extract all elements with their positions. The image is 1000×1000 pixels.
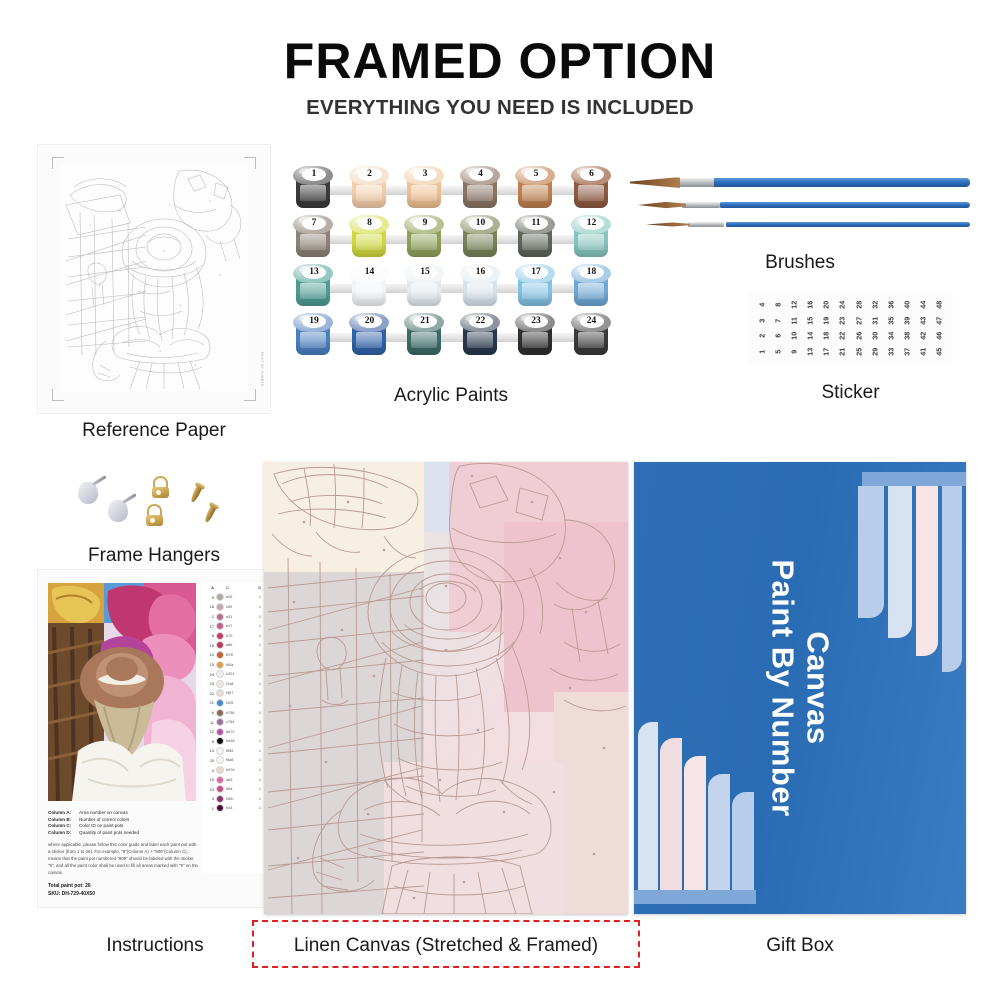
gift-box-line-1: Canvas [800, 559, 835, 816]
sticker-number: 16 [803, 297, 819, 313]
paint-pot-cap: 11 [515, 215, 555, 234]
legend-color-swatch [216, 756, 224, 764]
sku-label: SKU: [48, 891, 60, 897]
paint-pot-1: 1 [292, 166, 334, 210]
caption-sticker: Sticker [748, 382, 953, 404]
sticker-number: 44 [915, 297, 931, 313]
legend-area-number: 4 [205, 796, 214, 801]
gift-box-top-band [862, 472, 966, 486]
legend-quantity: 1 [255, 739, 261, 743]
paint-pot-cap: 13 [293, 264, 333, 283]
brush-medium [638, 202, 970, 208]
sticker-number: 21 [835, 343, 851, 359]
paint-row: 192021222324 [292, 311, 610, 360]
legend-quantity: 1 [255, 711, 261, 715]
legend-row: 13d9a1 [203, 784, 263, 794]
legend-row: 19a631 [203, 775, 263, 785]
sku-value: DH-729-40X50 [62, 891, 95, 897]
sticker-number: 37 [899, 343, 915, 359]
sticker-sheet: 4812162024283236404448371115192327313539… [748, 292, 953, 364]
legend-rows: 9a26116c6912a31117b4718b70118a86110B7811… [203, 593, 263, 814]
legend-color-code: b47 [226, 624, 253, 628]
paint-pot-cap: 12 [571, 215, 611, 234]
legend-area-number: 24 [205, 672, 214, 677]
paint-pot-cap: 5 [515, 166, 555, 185]
legend-row: 5h6481 [203, 737, 263, 747]
legend-row: 17b471 [203, 621, 263, 631]
legend-color-swatch [216, 670, 224, 678]
gift-box-title: Canvas Paint By Number [765, 559, 834, 816]
paint-pot-cap: 2 [349, 166, 389, 185]
sticker-number: 46 [931, 328, 947, 344]
paint-pot-cap: 6 [571, 166, 611, 185]
gift-box-stripe [916, 486, 938, 656]
preview-artwork-svg [48, 583, 196, 801]
paint-pot-number: 18 [580, 266, 604, 279]
paint-pot-cap: 14 [349, 264, 389, 283]
sticker-number: 32 [867, 297, 883, 313]
legend-row: 9a261 [203, 593, 263, 603]
paint-pot-cap: 4 [460, 166, 500, 185]
sticker-number: 8 [770, 297, 786, 313]
legend-row: 14f9551 [203, 746, 263, 756]
legend-color-code: a31 [226, 615, 253, 619]
brush-large [630, 178, 970, 187]
sticker-number: 11 [786, 312, 802, 328]
legend-header-b-spacer [216, 584, 224, 592]
caption-instructions: Instructions [38, 935, 272, 957]
brush-ferrule [682, 202, 720, 208]
brush-small [646, 222, 970, 227]
paint-pot-5: 5 [514, 166, 556, 210]
legend-quantity: 1 [255, 730, 261, 734]
legend-row: 4f46b1 [203, 794, 263, 804]
acrylic-paints-group: 123456 789101112 131415161718 1920212223… [292, 164, 610, 360]
paint-pot-number: 3 [413, 168, 437, 181]
paint-pot-number: 9 [413, 217, 437, 230]
legend-area-number: 21 [205, 700, 214, 705]
screw-icon [190, 483, 204, 504]
caption-brushes: Brushes [630, 252, 970, 274]
legend-color-code: f955 [226, 749, 253, 753]
sticker-number: 35 [883, 312, 899, 328]
paint-pot-14: 14 [348, 264, 390, 308]
legend-color-code: h756 [226, 711, 253, 715]
sticker-number: 30 [867, 328, 883, 344]
legend-color-code: f367 [226, 691, 253, 695]
paint-pot-16: 16 [459, 264, 501, 308]
gift-box-stripe [942, 486, 962, 672]
legend-color-code: h648 [226, 739, 253, 743]
plastic-hook-icon [108, 500, 128, 522]
paint-pot-number: 21 [413, 315, 437, 328]
sticker-number: 34 [883, 328, 899, 344]
sticker-number: 9 [786, 343, 802, 359]
legend-row: 2a311 [203, 612, 263, 622]
legend-color-code: f148 [226, 682, 253, 686]
gift-box-stripe [684, 756, 706, 890]
page-subtitle: EVERYTHING YOU NEED IS INCLUDED [0, 96, 1000, 120]
legend-row: 12a9721 [203, 727, 263, 737]
sticker-number: 6 [770, 328, 786, 344]
legend-row: 15f60a1 [203, 660, 263, 670]
caption-acrylic-paints: Acrylic Paints [292, 385, 610, 407]
paint-pot-number: 23 [524, 315, 548, 328]
legend-area-number: 8 [205, 633, 214, 638]
legend-quantity: 1 [255, 653, 261, 657]
instructions-text-block: Column A:Area number on canvasColumn B:N… [48, 810, 200, 898]
paint-pot-number: 10 [469, 217, 493, 230]
legend-color-code: f105 [226, 701, 253, 705]
sticker-number: 5 [770, 343, 786, 359]
legend-color-code: f60a [226, 663, 253, 667]
paint-pot-number: 22 [469, 315, 493, 328]
column-description: Color ID on paint pots [79, 823, 123, 830]
paint-pot-cap: 16 [460, 264, 500, 283]
legend-area-number: 6 [205, 710, 214, 715]
column-description: Quantity of paint pots needed [79, 830, 139, 837]
legend-quantity: 1 [255, 643, 261, 647]
brush-ferrule [688, 222, 724, 227]
legend-header-c: C [226, 586, 253, 590]
column-key: Column D: [48, 830, 74, 837]
legend-area-number: 22 [205, 691, 214, 696]
legend-quantity: 1 [255, 624, 261, 628]
column-definitions: Column A:Area number on canvasColumn B:N… [48, 810, 200, 836]
sticker-number: 29 [867, 343, 883, 359]
paint-pot-cap: 1 [293, 166, 333, 185]
column-key: Column B: [48, 817, 74, 824]
paint-pot-cap: 8 [349, 215, 389, 234]
paint-pot-23: 23 [514, 313, 556, 357]
legend-row: 22f3671 [203, 689, 263, 699]
reference-paper-lineart [60, 165, 248, 391]
legend-row: 16c691 [203, 602, 263, 612]
legend-row: 3b9761 [203, 765, 263, 775]
sticker-number: 18 [819, 328, 835, 344]
legend-area-number: 20 [205, 758, 214, 763]
sticker-number: 39 [899, 312, 915, 328]
legend-area-number: 5 [205, 739, 214, 744]
legend-color-swatch [216, 785, 224, 793]
framed-option-infographic: FRAMED OPTION EVERYTHING YOU NEED IS INC… [0, 0, 1000, 1000]
paint-pot-12: 12 [570, 215, 612, 259]
total-paint-pot-line: Total paint pot: 26 [48, 882, 200, 890]
legend-quantity: 1 [255, 758, 261, 762]
legend-area-number: 15 [205, 662, 214, 667]
legend-color-code: f46b [226, 797, 253, 801]
sticker-number: 3 [754, 312, 770, 328]
legend-area-number: 9 [205, 595, 214, 600]
paint-pot-cap: 20 [349, 313, 389, 332]
legend-color-code: b70 [226, 634, 253, 638]
legend-color-swatch [216, 641, 224, 649]
paint-pot-cap: 9 [404, 215, 444, 234]
paint-pot-24: 24 [570, 313, 612, 357]
legend-row: 11c7841 [203, 717, 263, 727]
sticker-number: 25 [851, 343, 867, 359]
legend-color-code: b976 [226, 768, 253, 772]
legend-color-code: f5a8 [226, 758, 253, 762]
legend-header-d: D [255, 586, 261, 590]
legend-color-code: d9a [226, 787, 253, 791]
paint-pot-number: 7 [302, 217, 326, 230]
legend-quantity: 1 [255, 720, 261, 724]
legend-color-swatch [216, 603, 224, 611]
paint-pot-number: 1 [302, 168, 326, 181]
legend-color-code: c69 [226, 605, 253, 609]
page-title: FRAMED OPTION [0, 32, 1000, 90]
sticker-number: 33 [883, 343, 899, 359]
paint-pot-cap: 17 [515, 264, 555, 283]
sticker-number: 12 [786, 297, 802, 313]
gift-box-image: Canvas Paint By Number [634, 462, 966, 914]
paint-row: 123456 [292, 164, 610, 213]
sticker-number: 48 [931, 297, 947, 313]
paint-pot-number: 4 [469, 168, 493, 181]
legend-color-swatch [216, 680, 224, 688]
column-key: Column A: [48, 810, 74, 817]
color-code-legend: A C D 9a26116c6912a31117b4718b70118a8611… [203, 583, 263, 873]
legend-color-swatch [216, 728, 224, 736]
column-description: Area number on canvas [79, 810, 128, 817]
caption-frame-hangers: Frame Hangers [38, 545, 270, 567]
brush-ferrule [676, 178, 714, 187]
paint-pot-number: 11 [524, 217, 548, 230]
gift-box-stripe [858, 486, 884, 618]
sticker-number: 23 [835, 312, 851, 328]
gift-box-stripe [732, 792, 754, 890]
sticker-number: 7 [770, 312, 786, 328]
paint-pot-cap: 18 [571, 264, 611, 283]
legend-area-number: 2 [205, 614, 214, 619]
sticker-number: 20 [819, 297, 835, 313]
legend-quantity: 1 [255, 595, 261, 599]
legend-color-swatch [216, 804, 224, 812]
legend-quantity: 1 [255, 605, 261, 609]
paint-pot-cap: 19 [293, 313, 333, 332]
legend-row: 21f1051 [203, 698, 263, 708]
legend-color-swatch [216, 661, 224, 669]
total-paint-pot-label: Total paint pot: [48, 883, 84, 889]
sticker-number: 15 [803, 312, 819, 328]
sticker-number: 14 [803, 328, 819, 344]
sticker-number: 1 [754, 343, 770, 359]
caption-linen-canvas: Linen Canvas (Stretched & Framed) [252, 935, 640, 957]
legend-color-swatch [216, 718, 224, 726]
legend-quantity: 1 [255, 691, 261, 695]
paint-pot-18: 18 [570, 264, 612, 308]
legend-color-swatch [216, 632, 224, 640]
legend-color-swatch [216, 613, 224, 621]
paint-pot-17: 17 [514, 264, 556, 308]
legend-quantity: 1 [255, 634, 261, 638]
instructions-note: where applicable, please follow this col… [48, 841, 200, 876]
legend-area-number: 23 [205, 681, 214, 686]
legend-header-row: A C D [203, 583, 263, 593]
caption-reference-paper: Reference Paper [38, 420, 270, 442]
legend-color-swatch [216, 622, 224, 630]
legend-area-number: 18 [205, 643, 214, 648]
legend-row: 23f1481 [203, 679, 263, 689]
total-paint-pot-value: 26 [85, 883, 91, 889]
legend-area-number: 13 [205, 787, 214, 792]
column-definition: Column B:Number of correct colors [48, 817, 200, 824]
paint-pot-number: 14 [358, 266, 382, 279]
legend-color-code: a63 [226, 778, 253, 782]
sticker-number: 24 [835, 297, 851, 313]
paint-row: 131415161718 [292, 262, 610, 311]
sticker-number: 45 [931, 343, 947, 359]
legend-row: 18a861 [203, 641, 263, 651]
paint-pot-13: 13 [292, 264, 334, 308]
paint-pot-cap: 24 [571, 313, 611, 332]
legend-quantity: 1 [255, 787, 261, 791]
legend-color-swatch [216, 699, 224, 707]
legend-row: 1b431 [203, 804, 263, 814]
brush-bristles [646, 222, 690, 227]
gift-box-line-2: Paint By Number [765, 559, 800, 816]
paint-pot-10: 10 [459, 215, 501, 259]
paint-pot-cap: 23 [515, 313, 555, 332]
paint-pot-number: 8 [358, 217, 382, 230]
paint-pot-number: 15 [413, 266, 437, 279]
gift-box-stripe [638, 722, 658, 890]
frame-hangers-group [70, 470, 260, 540]
paint-pot-number: 17 [524, 266, 548, 279]
paint-pot-number: 20 [358, 315, 382, 328]
sticker-number: 42 [915, 328, 931, 344]
column-definition: Column A:Area number on canvas [48, 810, 200, 817]
paint-pot-2: 2 [348, 166, 390, 210]
brush-handle [720, 202, 970, 208]
legend-color-code: h201 [226, 672, 253, 676]
canvas-lineart-svg [264, 462, 628, 914]
legend-quantity: 1 [255, 749, 261, 753]
legend-color-swatch [216, 593, 224, 601]
paint-pot-number: 12 [580, 217, 604, 230]
sticker-number: 26 [851, 328, 867, 344]
brush-bristles [630, 177, 680, 188]
legend-area-number: 16 [205, 604, 214, 609]
legend-area-number: 11 [205, 720, 214, 725]
paint-pot-cap: 7 [293, 215, 333, 234]
legend-quantity: 1 [255, 672, 261, 676]
legend-quantity: 1 [255, 797, 261, 801]
paint-pot-number: 24 [580, 315, 604, 328]
legend-quantity: 1 [255, 768, 261, 772]
legend-area-number: 1 [205, 806, 214, 811]
legend-quantity: 1 [255, 615, 261, 619]
legend-color-code: a972 [226, 730, 253, 734]
legend-row: 6h7561 [203, 708, 263, 718]
paint-pot-9: 9 [403, 215, 445, 259]
legend-quantity: 1 [255, 778, 261, 782]
paint-pot-number: 5 [524, 168, 548, 181]
column-definition: Column C:Color ID on paint pots [48, 823, 200, 830]
paint-pot-8: 8 [348, 215, 390, 259]
legend-area-number: 19 [205, 777, 214, 782]
plastic-hook-icon [78, 482, 98, 504]
legend-area-number: 3 [205, 768, 214, 773]
legend-row: 24h2011 [203, 669, 263, 679]
reference-paper-sheet: PAINT BY NUMBER [38, 145, 270, 413]
paint-pot-22: 22 [459, 313, 501, 357]
legend-quantity: 1 [255, 663, 261, 667]
legend-row: 20f5a81 [203, 756, 263, 766]
gift-box-stripe [708, 774, 730, 890]
legend-color-code: b43 [226, 806, 253, 810]
paint-pot-3: 3 [403, 166, 445, 210]
sticker-number: 13 [803, 343, 819, 359]
brush-handle [726, 222, 970, 227]
sticker-number: 22 [835, 328, 851, 344]
paint-pot-cap: 21 [404, 313, 444, 332]
paint-pot-number: 13 [302, 266, 326, 279]
gift-box-stripe [660, 738, 682, 890]
legend-color-code: a26 [226, 595, 253, 599]
d-ring-hanger-icon [146, 504, 163, 526]
screw-icon [204, 503, 218, 524]
d-ring-hanger-icon [152, 476, 169, 498]
legend-color-swatch [216, 709, 224, 717]
legend-color-swatch [216, 766, 224, 774]
paint-pot-6: 6 [570, 166, 612, 210]
sticker-number: 47 [931, 312, 947, 328]
sticker-number: 31 [867, 312, 883, 328]
sticker-number: 28 [851, 297, 867, 313]
sticker-number-grid: 4812162024283236404448371115192327313539… [754, 297, 947, 359]
paint-pot-cap: 15 [404, 264, 444, 283]
column-key: Column C: [48, 823, 74, 830]
sticker-number: 43 [915, 312, 931, 328]
legend-quantity: 1 [255, 682, 261, 686]
paint-pot-cap: 10 [460, 215, 500, 234]
paint-pot-cap: 3 [404, 166, 444, 185]
sticker-number: 2 [754, 328, 770, 344]
legend-area-number: 12 [205, 729, 214, 734]
paint-pot-cap: 22 [460, 313, 500, 332]
gift-box-stripe [888, 486, 912, 638]
legend-color-swatch [216, 737, 224, 745]
d-ring-plate [152, 487, 169, 498]
paint-pot-11: 11 [514, 215, 556, 259]
paint-pot-21: 21 [403, 313, 445, 357]
caption-gift-box: Gift Box [634, 935, 966, 957]
lineart-svg [60, 165, 248, 391]
legend-color-swatch [216, 651, 224, 659]
sticker-number: 19 [819, 312, 835, 328]
legend-quantity: 1 [255, 701, 261, 705]
sku-line: SKU: DH-729-40X50 [48, 890, 200, 898]
sticker-number: 27 [851, 312, 867, 328]
legend-header-a: A [205, 585, 214, 590]
legend-area-number: 14 [205, 748, 214, 753]
brushes-group [630, 172, 970, 244]
instructions-preview-image [48, 583, 196, 801]
column-description: Number of correct colors [79, 817, 129, 824]
paint-pot-15: 15 [403, 264, 445, 308]
legend-quantity: 1 [255, 806, 261, 810]
sticker-number: 38 [899, 328, 915, 344]
paint-pot-number: 16 [469, 266, 493, 279]
sticker-number: 41 [915, 343, 931, 359]
legend-row: 10B781 [203, 650, 263, 660]
sticker-number: 40 [899, 297, 915, 313]
legend-color-code: B78 [226, 653, 253, 657]
legend-area-number: 17 [205, 624, 214, 629]
brush-handle [712, 178, 970, 187]
